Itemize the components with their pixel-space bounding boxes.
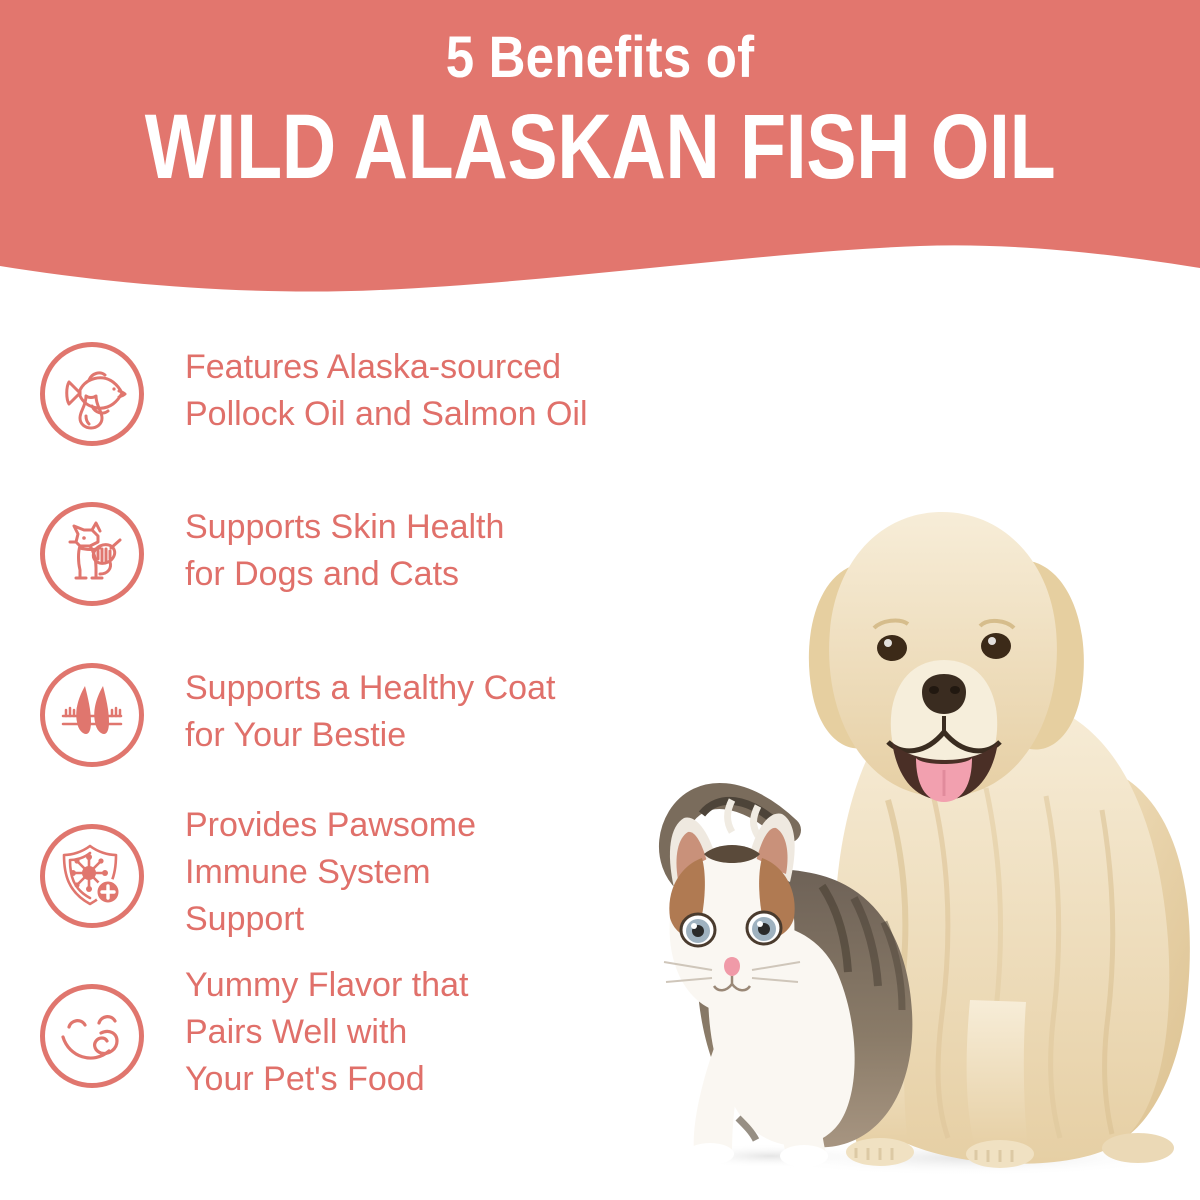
benefit-icon-circle-4 <box>40 824 144 928</box>
benefit-item-2: Supports Skin Health for Dogs and Cats <box>40 502 504 606</box>
benefit-item-4: Provides Pawsome Immune System Support <box>40 824 476 943</box>
header-text-block: 5 Benefits of WILD ALASKAN FISH OIL <box>0 0 1200 196</box>
benefit-icon-circle-3 <box>40 663 144 767</box>
benefit-text-5: Yummy Flavor that Pairs Well with Your P… <box>185 962 468 1103</box>
benefit-line: for Dogs and Cats <box>185 551 504 598</box>
benefit-line: for Your Bestie <box>185 712 555 759</box>
benefit-item-1: Features Alaska-sourced Pollock Oil and … <box>40 342 588 446</box>
header-eyebrow-text: 5 Benefits of <box>72 26 1128 90</box>
benefit-icon-circle-2 <box>40 502 144 606</box>
benefit-text-3: Supports a Healthy Coat for Your Bestie <box>185 663 555 759</box>
yummy-face-icon <box>55 999 129 1073</box>
benefit-line: Features Alaska-sourced <box>185 344 588 391</box>
benefit-line: Provides Pawsome <box>185 802 476 849</box>
benefit-text-2: Supports Skin Health for Dogs and Cats <box>185 502 504 598</box>
benefit-text-1: Features Alaska-sourced Pollock Oil and … <box>185 342 588 438</box>
benefit-icon-circle-5 <box>40 984 144 1088</box>
benefit-line: Immune System <box>185 849 476 896</box>
page-title: WILD ALASKAN FISH OIL <box>108 98 1092 196</box>
benefit-text-4: Provides Pawsome Immune System Support <box>185 802 476 943</box>
dog-grooming-brush-icon <box>56 518 128 590</box>
immune-shield-icon <box>56 840 128 912</box>
benefit-line: Pollock Oil and Salmon Oil <box>185 391 588 438</box>
benefit-item-5: Yummy Flavor that Pairs Well with Your P… <box>40 984 468 1103</box>
benefit-line: Yummy Flavor that <box>185 962 468 1009</box>
benefit-item-3: Supports a Healthy Coat for Your Bestie <box>40 663 555 767</box>
benefit-line: Pairs Well with <box>185 1009 468 1056</box>
benefit-line: Your Pet's Food <box>185 1056 468 1103</box>
hair-follicle-icon <box>55 678 129 752</box>
benefit-line: Supports Skin Health <box>185 504 504 551</box>
kitten-head <box>664 814 800 1014</box>
benefit-line: Support <box>185 896 476 943</box>
benefit-line: Supports a Healthy Coat <box>185 665 555 712</box>
benefit-icon-circle-1 <box>40 342 144 446</box>
fish-oil-drop-icon <box>56 358 128 430</box>
golden-retriever-and-kitten-photo <box>640 470 1200 1180</box>
